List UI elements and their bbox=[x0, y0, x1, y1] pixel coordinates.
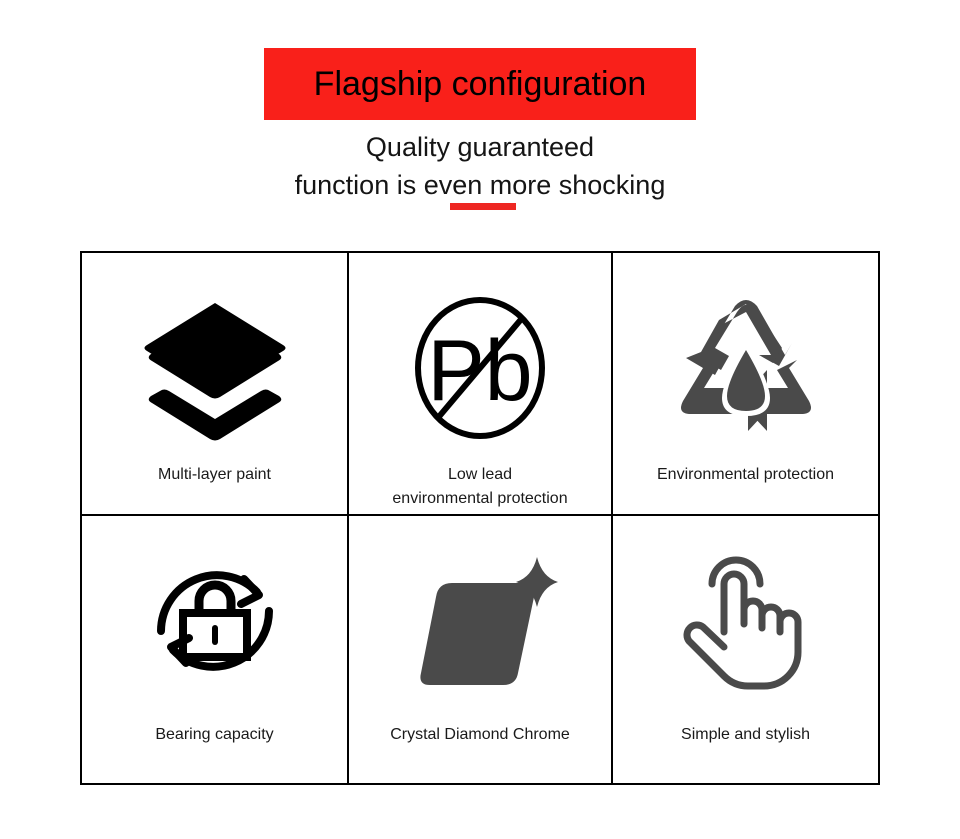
subtitle-underline-accent bbox=[450, 203, 516, 210]
feature-label-line: Environmental protection bbox=[657, 463, 834, 487]
feature-cell-bearing-capacity[interactable]: Bearing capacity bbox=[82, 514, 347, 783]
feature-label: Simple and stylish bbox=[675, 723, 816, 747]
no-lead-pb-icon: Pb bbox=[409, 293, 551, 443]
feature-label: Bearing capacity bbox=[149, 723, 279, 747]
icon-slot bbox=[145, 548, 285, 693]
subtitle-block: Quality guaranteed function is even more… bbox=[0, 128, 960, 204]
feature-label-line: Low lead bbox=[392, 463, 567, 487]
feature-label-line: Multi-layer paint bbox=[158, 463, 271, 487]
lock-rotation-icon bbox=[145, 551, 285, 691]
feature-cell-low-lead[interactable]: Pb Low lead environmental protection bbox=[347, 253, 613, 514]
feature-cell-environmental-protection[interactable]: Environmental protection bbox=[613, 253, 878, 514]
feature-label: Environmental protection bbox=[651, 463, 840, 487]
page-title: Flagship configuration bbox=[314, 67, 647, 101]
icon-slot bbox=[676, 548, 816, 693]
subtitle-line-1: Quality guaranteed bbox=[0, 128, 960, 166]
feature-label: Low lead environmental protection bbox=[386, 463, 573, 511]
feature-cell-crystal-diamond-chrome[interactable]: Crystal Diamond Chrome bbox=[347, 514, 613, 783]
feature-cell-simple-and-stylish[interactable]: Simple and stylish bbox=[613, 514, 878, 783]
icon-slot bbox=[400, 548, 560, 693]
chrome-diamond-sparkle-icon bbox=[400, 551, 560, 691]
feature-label: Crystal Diamond Chrome bbox=[384, 723, 576, 747]
feature-label-line: Simple and stylish bbox=[681, 723, 810, 747]
title-banner: Flagship configuration bbox=[264, 48, 696, 120]
icon-slot bbox=[675, 293, 817, 443]
feature-label: Multi-layer paint bbox=[152, 463, 277, 487]
feature-cell-multi-layer-paint[interactable]: Multi-layer paint bbox=[82, 253, 347, 514]
feature-grid: Multi-layer paint Pb Low lead environmen… bbox=[80, 251, 880, 785]
layers-stack-icon bbox=[140, 293, 290, 443]
subtitle-line-2: function is even more shocking bbox=[0, 166, 960, 204]
page-header: Flagship configuration Quality guarantee… bbox=[0, 0, 960, 240]
hand-tap-icon bbox=[676, 548, 816, 693]
no-lead-pb-label: Pb bbox=[427, 323, 532, 419]
icon-slot: Pb bbox=[409, 293, 551, 443]
feature-label-line: environmental protection bbox=[392, 487, 567, 511]
feature-label-line: Crystal Diamond Chrome bbox=[390, 723, 570, 747]
icon-slot bbox=[140, 293, 290, 443]
feature-label-line: Bearing capacity bbox=[155, 723, 273, 747]
recycling-droplet-icon bbox=[675, 298, 817, 438]
